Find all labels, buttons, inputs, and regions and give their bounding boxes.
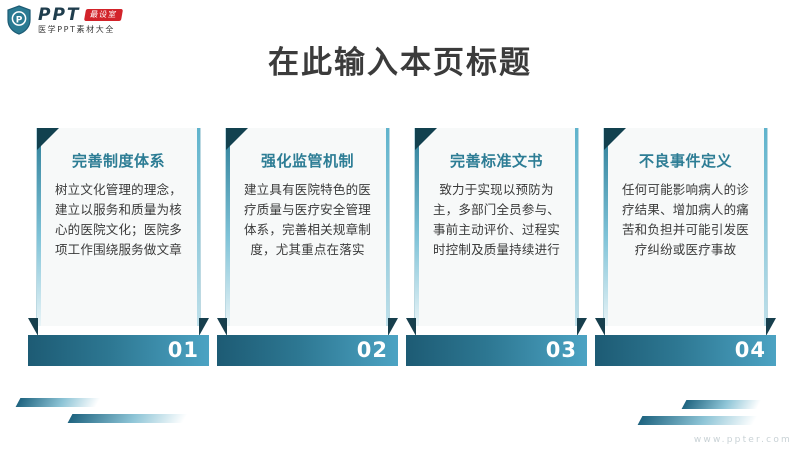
card-number: 01 — [168, 338, 199, 362]
card-left-accent — [37, 128, 41, 326]
logo-text-block: PPT 最设室 医学PPT素材大全 — [38, 7, 122, 34]
card-corner-fold-icon — [415, 128, 437, 150]
card-title: 完善标准文书 — [425, 150, 568, 171]
card-wing-right-icon — [577, 318, 587, 336]
card-panel: 完善标准文书 致力于实现以预防为主，多部门全员参与、事前主动评价、过程实时控制及… — [414, 128, 579, 326]
decorative-bar-bottom-right-2 — [638, 416, 758, 425]
card-wing-right-icon — [199, 318, 209, 336]
card-wing-right-icon — [388, 318, 398, 336]
page-title: 在此输入本页标题 — [0, 37, 800, 82]
card-right-accent — [575, 128, 578, 326]
decorative-bar-bottom-left-1 — [16, 398, 101, 407]
logo-subtitle: 医学PPT素材大全 — [38, 26, 122, 34]
card-title: 不良事件定义 — [614, 150, 757, 171]
card-wing-left-icon — [595, 318, 605, 336]
logo-brand-text: PPT — [38, 7, 81, 24]
card-left-accent — [226, 128, 230, 326]
shield-icon: P — [6, 5, 32, 35]
card-wing-left-icon — [406, 318, 416, 336]
watermark: www.ppter.com — [694, 435, 792, 445]
card-left-accent — [415, 128, 419, 326]
card-right-accent — [197, 128, 200, 326]
card-panel: 强化监管机制 建立具有医院特色的医疗质量与医疗安全管理体系，完善相关规章制度，尤… — [225, 128, 390, 326]
card-item[interactable]: 不良事件定义 任何可能影响病人的诊疗结果、增加病人的痛苦和负担并可能引发医疗纠纷… — [595, 128, 776, 366]
card-wing-right-icon — [766, 318, 776, 336]
shield-letter: P — [16, 16, 23, 26]
card-panel: 不良事件定义 任何可能影响病人的诊疗结果、增加病人的痛苦和负担并可能引发医疗纠纷… — [603, 128, 768, 326]
decorative-bar-bottom-right-1 — [682, 400, 762, 409]
card-body-text: 树立文化管理的理念，建立以服务和质量为核心的医院文化；医院多项工作围绕服务做文章 — [53, 180, 184, 260]
card-corner-fold-icon — [37, 128, 59, 150]
cards-row: 完善制度体系 树立文化管理的理念，建立以服务和质量为核心的医院文化；医院多项工作… — [28, 128, 776, 366]
card-title: 强化监管机制 — [236, 150, 379, 171]
card-body-text: 致力于实现以预防为主，多部门全员参与、事前主动评价、过程实时控制及质量持续进行 — [431, 180, 562, 260]
card-title: 完善制度体系 — [47, 150, 190, 171]
brand-logo: P PPT 最设室 医学PPT素材大全 — [6, 4, 122, 36]
card-right-accent — [386, 128, 389, 326]
card-corner-fold-icon — [226, 128, 248, 150]
card-number-bar: 03 — [406, 335, 587, 366]
card-corner-fold-icon — [604, 128, 626, 150]
card-wing-left-icon — [217, 318, 227, 336]
card-number-bar: 04 — [595, 335, 776, 366]
card-number: 04 — [735, 338, 766, 362]
card-item[interactable]: 强化监管机制 建立具有医院特色的医疗质量与医疗安全管理体系，完善相关规章制度，尤… — [217, 128, 398, 366]
card-number: 02 — [357, 338, 388, 362]
card-wing-left-icon — [28, 318, 38, 336]
card-panel: 完善制度体系 树立文化管理的理念，建立以服务和质量为核心的医院文化；医院多项工作… — [36, 128, 201, 326]
card-number-bar: 01 — [28, 335, 209, 366]
card-number: 03 — [546, 338, 577, 362]
card-item[interactable]: 完善标准文书 致力于实现以预防为主，多部门全员参与、事前主动评价、过程实时控制及… — [406, 128, 587, 366]
card-body-text: 建立具有医院特色的医疗质量与医疗安全管理体系，完善相关规章制度，尤其重点在落实 — [242, 180, 373, 260]
card-right-accent — [764, 128, 767, 326]
card-number-bar: 02 — [217, 335, 398, 366]
card-body-text: 任何可能影响病人的诊疗结果、增加病人的痛苦和负担并可能引发医疗纠纷或医疗事故 — [620, 180, 751, 260]
card-left-accent — [604, 128, 608, 326]
decorative-bar-bottom-left-2 — [68, 414, 188, 423]
card-item[interactable]: 完善制度体系 树立文化管理的理念，建立以服务和质量为核心的医院文化；医院多项工作… — [28, 128, 209, 366]
logo-badge: 最设室 — [83, 9, 122, 21]
